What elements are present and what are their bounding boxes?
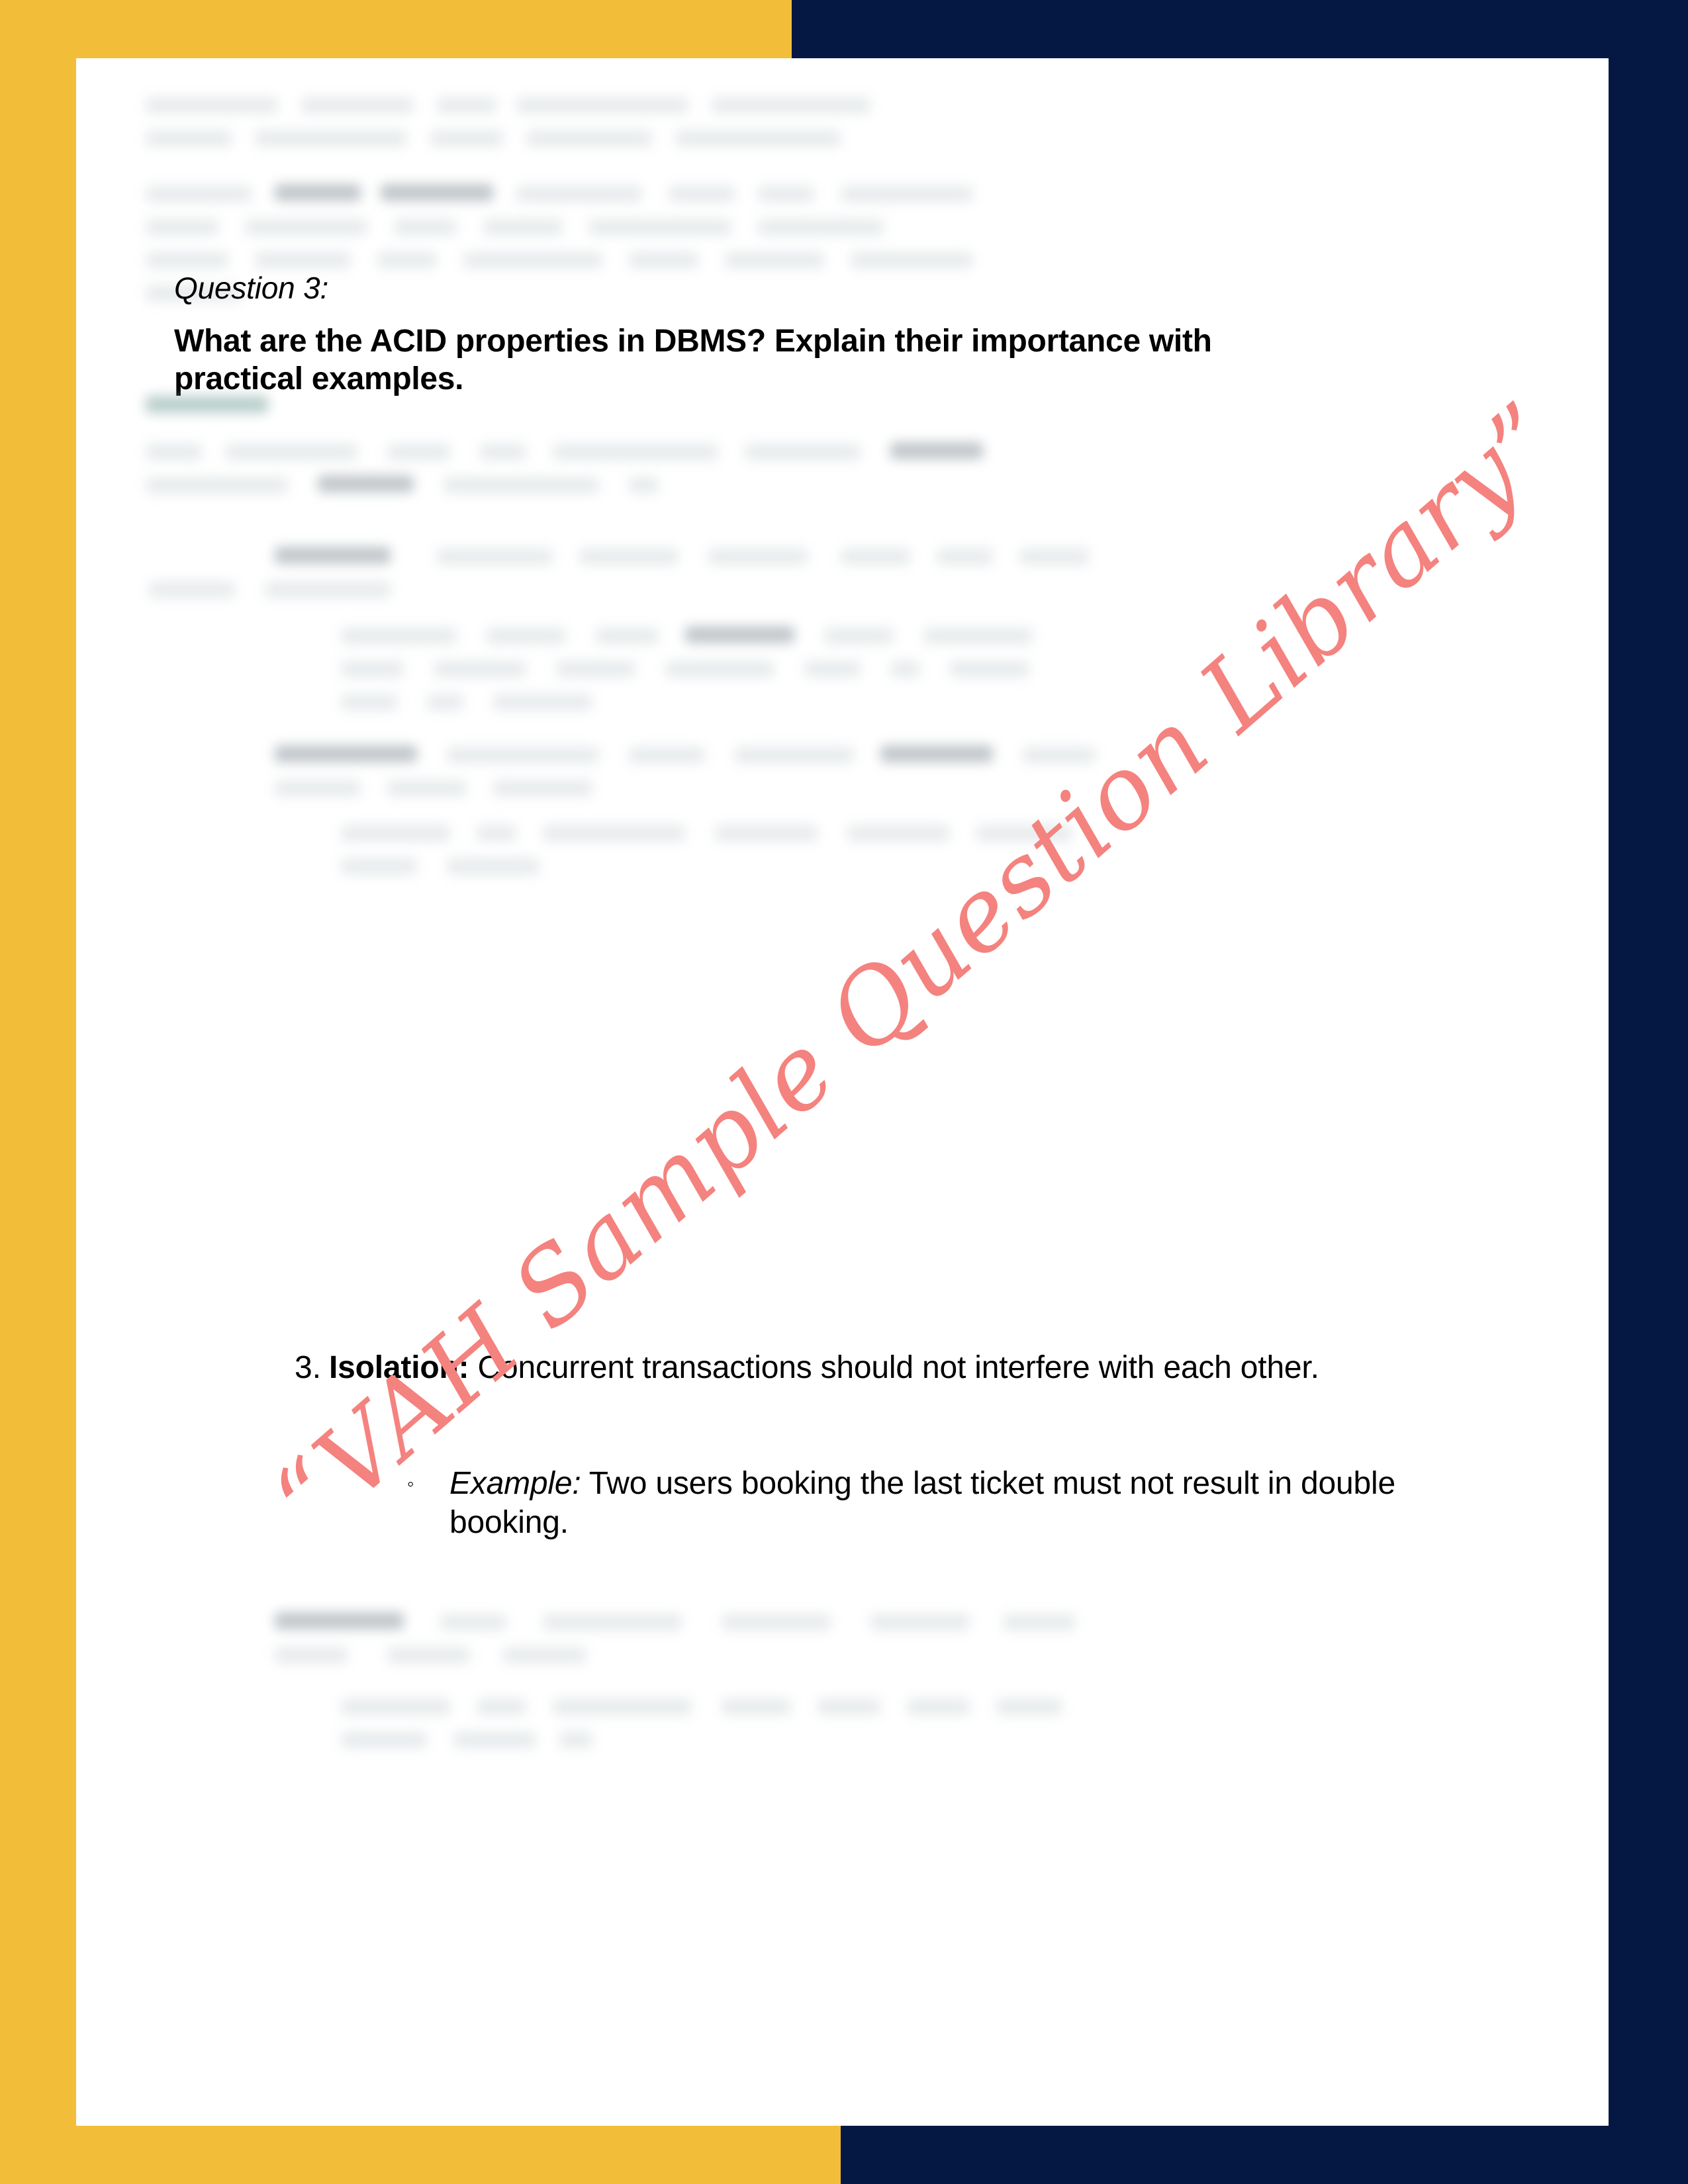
page-canvas: Question 3: What are the ACID properties…	[0, 0, 1688, 2184]
sub-bullet-marker-icon: ◦	[407, 1465, 449, 1504]
border-band-left-yellow	[0, 0, 76, 2126]
border-band-bottom-yellow	[0, 2126, 841, 2184]
question-label: Question 3:	[174, 270, 328, 306]
list-item-number: 3.	[295, 1349, 329, 1388]
redacted-top-paragraph	[76, 58, 1609, 270]
sub-bullet-text: Two users booking the last ticket must n…	[449, 1466, 1395, 1540]
redacted-answer-body	[76, 383, 1609, 1336]
sub-bullet-example: ◦ Example: Two users booking the last ti…	[407, 1465, 1440, 1542]
document-sheet: Question 3: What are the ACID properties…	[76, 58, 1609, 2126]
sub-bullet-body: Example: Two users booking the last tick…	[449, 1465, 1440, 1542]
redacted-bottom-paragraph	[76, 1600, 1609, 1885]
list-item-body: Isolation: Concurrent transactions shoul…	[329, 1349, 1552, 1388]
list-item-term: Isolation:	[329, 1350, 469, 1385]
border-band-top-navy	[792, 0, 1688, 58]
border-band-right-navy	[1609, 0, 1688, 2126]
border-band-bottom-navy	[841, 2126, 1688, 2184]
sub-bullet-term: Example:	[449, 1466, 581, 1501]
border-band-top-yellow	[0, 0, 792, 58]
list-item-text: Concurrent transactions should not inter…	[469, 1350, 1319, 1385]
list-item-isolation: 3. Isolation: Concurrent transactions sh…	[295, 1349, 1552, 1388]
